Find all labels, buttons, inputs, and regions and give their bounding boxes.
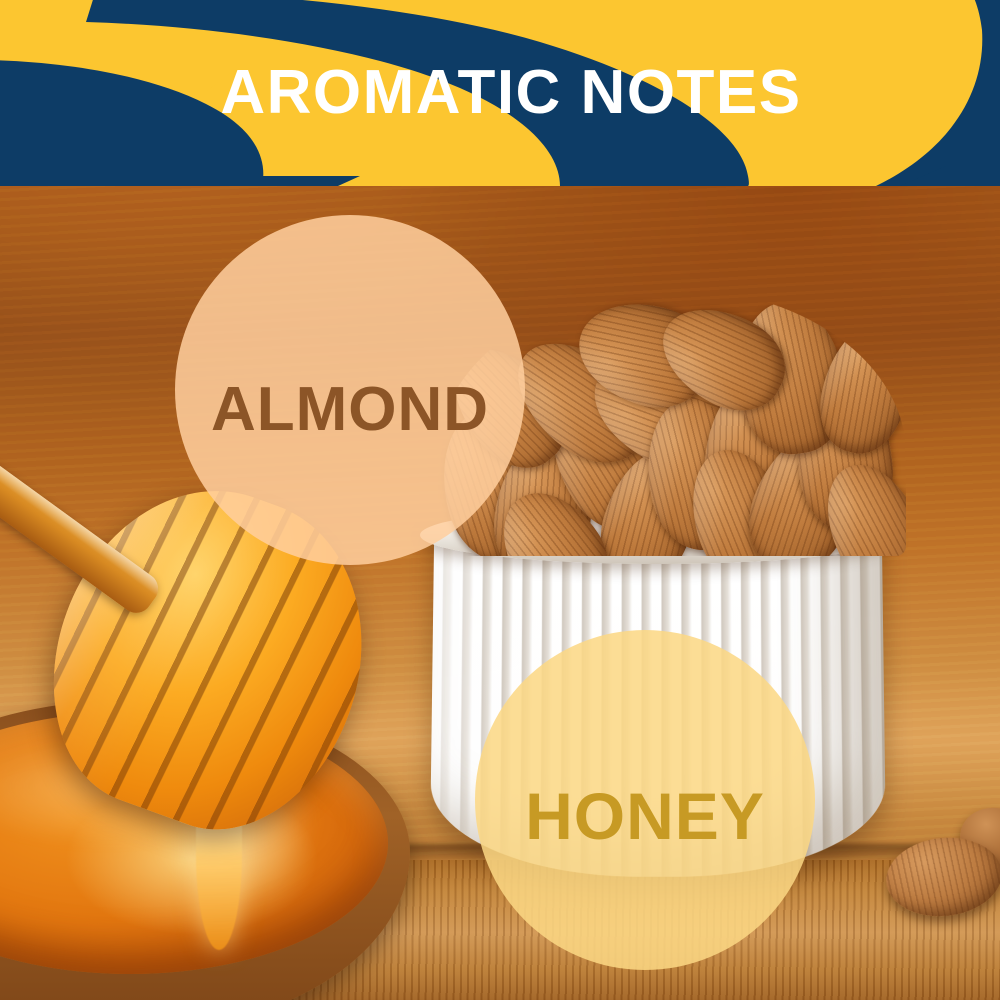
- header-banner: AROMATIC NOTES: [0, 0, 1000, 186]
- flavour-label-almond: ALMOND: [211, 379, 489, 441]
- page-title: AROMATIC NOTES: [0, 0, 1000, 186]
- flavour-circle-almond: ALMOND: [175, 215, 525, 565]
- flavour-label-honey: HONEY: [525, 783, 765, 849]
- aromatic-notes-poster: ALMOND HONEY AROMATIC NOTES: [0, 0, 1000, 1000]
- flavour-circle-honey: HONEY: [475, 630, 815, 970]
